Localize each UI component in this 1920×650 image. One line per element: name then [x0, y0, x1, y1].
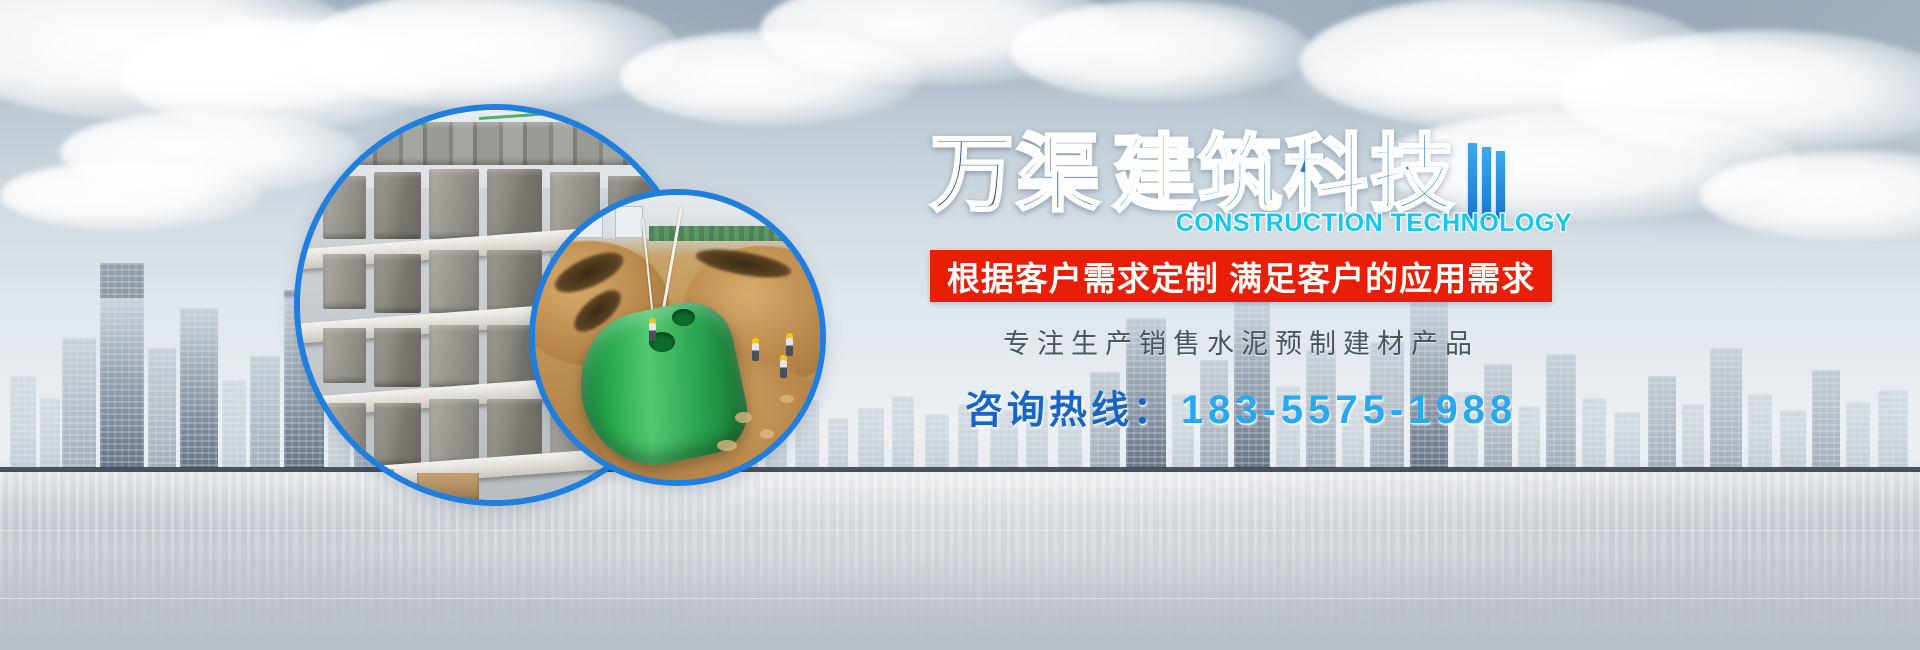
headline-block: 万渠 建筑科技 CONSTRUCTION TECHNOLOGY 根据客户需求定制…	[930, 125, 1630, 434]
tagline-text: 专注生产销售水泥预制建材产品	[930, 322, 1552, 361]
hotline-number[interactable]: 183-5575-1988	[1181, 388, 1517, 433]
promo-banner: 万渠 建筑科技 CONSTRUCTION TECHNOLOGY 根据客户需求定制…	[0, 0, 1920, 650]
brand-subtitle-en: CONSTRUCTION TECHNOLOGY	[1176, 209, 1572, 238]
brand-title: 万渠 建筑科技 CONSTRUCTION TECHNOLOGY	[930, 125, 1630, 230]
cloud	[1010, 0, 1310, 100]
red-slogan-banner: 根据客户需求定制 满足客户的应用需求	[930, 250, 1552, 302]
photo-septic-tank-installation	[535, 195, 820, 480]
red-slogan-text: 根据客户需求定制 满足客户的应用需求	[947, 252, 1535, 300]
reflective-ground	[0, 472, 1920, 650]
hotline-row: 咨询热线： 183-5575-1988	[930, 379, 1552, 434]
hotline-label: 咨询热线：	[965, 379, 1175, 434]
brand-title-dark: 万渠	[930, 125, 1102, 223]
